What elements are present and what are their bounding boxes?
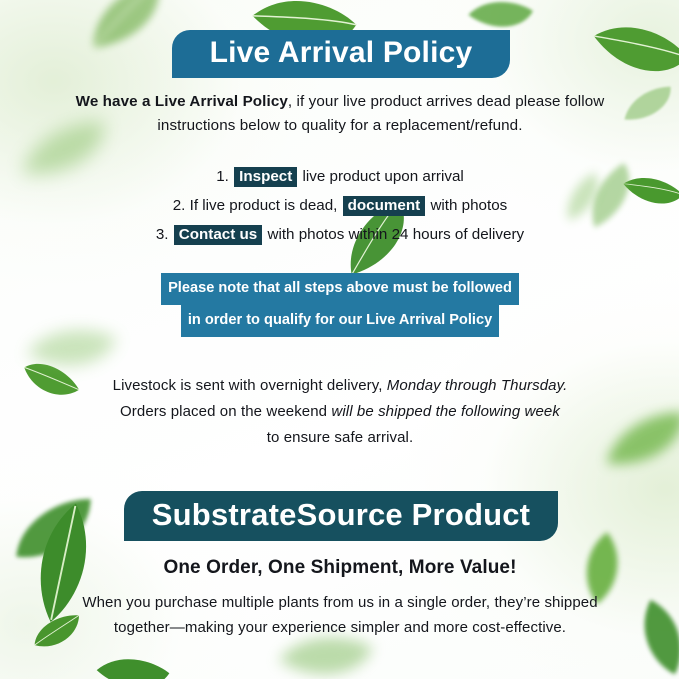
shipping-line1-italic: Monday through Thursday.: [387, 377, 568, 394]
intro-rest-phrase: , if your live product arrives dead plea…: [288, 93, 604, 110]
note-line: Please note that all steps above must be…: [161, 273, 519, 305]
outro-line-1: When you purchase multiple plants from u…: [72, 591, 608, 616]
intro-bold-phrase: We have a Live Arrival Policy: [76, 93, 288, 110]
shipping-line-2: Orders placed on the weekend will be shi…: [72, 399, 608, 425]
please-note-callout: Please note that all steps above must be…: [60, 273, 620, 337]
step-highlight: document: [343, 196, 426, 216]
step-text: with photos within 24 hours of delivery: [267, 226, 524, 243]
infographic-root: Live Arrival Policy We have a Live Arriv…: [0, 0, 679, 679]
substratesource-product-banner: SubstrateSource Product: [124, 491, 558, 541]
shipping-line2-italic: will be shipped the following week: [331, 403, 560, 420]
live-arrival-policy-banner: Live Arrival Policy: [172, 30, 510, 78]
infographic-content: Live Arrival Policy We have a Live Arriv…: [0, 0, 679, 679]
intro-line-2: instructions below to quality for a repl…: [60, 114, 620, 138]
substratesource-body-paragraph: When you purchase multiple plants from u…: [72, 591, 608, 641]
step-number: 2.: [173, 197, 186, 214]
list-item: 1. Inspect live product upon arrival: [60, 162, 620, 191]
step-highlight: Contact us: [174, 225, 262, 245]
step-number: 3.: [156, 226, 169, 243]
outro-line-2: together—making your experience simpler …: [72, 616, 608, 641]
intro-line-1: We have a Live Arrival Policy, if your l…: [60, 90, 620, 114]
live-arrival-intro-paragraph: We have a Live Arrival Policy, if your l…: [60, 90, 620, 137]
list-item: 3. Contact us with photos within 24 hour…: [60, 220, 620, 249]
substratesource-subheading: One Order, One Shipment, More Value!: [60, 557, 620, 579]
note-line-wrapper: in order to qualify for our Live Arrival…: [60, 305, 620, 337]
live-arrival-policy-title: Live Arrival Policy: [210, 36, 473, 70]
livestock-shipping-paragraph: Livestock is sent with overnight deliver…: [72, 373, 608, 450]
shipping-line-1: Livestock is sent with overnight deliver…: [72, 373, 608, 399]
step-text: live product upon arrival: [303, 168, 464, 185]
step-highlight: Inspect: [234, 167, 297, 187]
step-text: with photos: [430, 197, 507, 214]
list-item: 2. If live product is dead, document wit…: [60, 191, 620, 220]
note-line-wrapper: Please note that all steps above must be…: [60, 273, 620, 305]
step-pre-text: If live product is dead,: [190, 197, 338, 214]
note-line: in order to qualify for our Live Arrival…: [181, 305, 499, 337]
substratesource-product-title: SubstrateSource Product: [152, 497, 530, 533]
shipping-line1-text: Livestock is sent with overnight deliver…: [113, 377, 383, 394]
live-arrival-steps-list: 1. Inspect live product upon arrival 2. …: [60, 162, 620, 250]
shipping-line2-text: Orders placed on the weekend: [120, 403, 327, 420]
shipping-line-3: to ensure safe arrival.: [72, 425, 608, 451]
step-number: 1.: [216, 168, 229, 185]
